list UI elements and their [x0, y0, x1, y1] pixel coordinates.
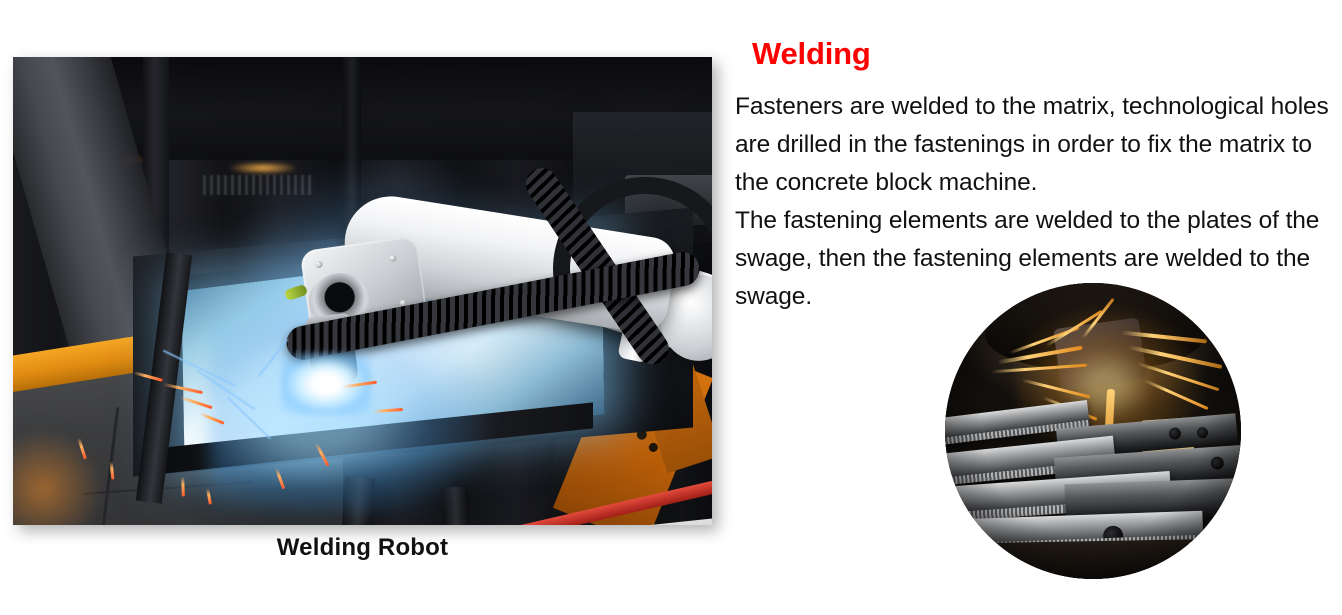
welding-robot-caption: Welding Robot — [13, 534, 712, 562]
welding-robot-photo — [13, 57, 712, 525]
welding-sparks-circular-photo — [945, 283, 1241, 579]
spark — [181, 476, 185, 496]
wrist-bolt — [389, 254, 397, 262]
floor-glow — [13, 429, 103, 525]
circle-vignette — [945, 283, 1241, 579]
welding-robot-figure — [13, 57, 712, 525]
wrist-bolt — [315, 261, 323, 269]
section-body: Fasteners are welded to the matrix, tech… — [735, 88, 1335, 316]
text-panel: Welding Fasteners are welded to the matr… — [735, 0, 1335, 615]
section-heading: Welding — [752, 36, 871, 72]
body-paragraph-1: Fasteners are welded to the matrix, tech… — [735, 88, 1335, 202]
